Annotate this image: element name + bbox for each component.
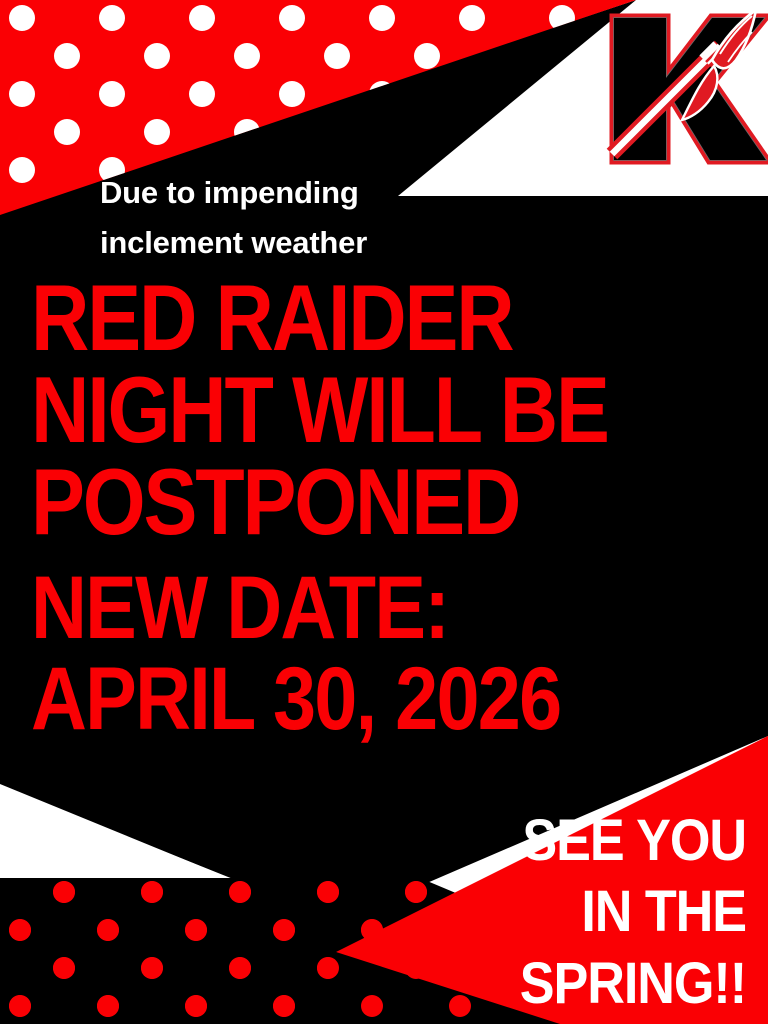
red-raider-k-spear-logo [596,2,768,174]
poster-canvas: Due to impending inclement weather RED R… [0,0,768,1024]
main-headline: RED RAIDER NIGHT WILL BE POSTPONED [31,272,633,548]
new-date-block: NEW DATE: APRIL 30, 2026 [31,562,692,744]
subheading-text: Due to impending inclement weather [100,168,560,268]
closing-message: SEE YOU IN THE SPRING!! [476,805,746,1019]
